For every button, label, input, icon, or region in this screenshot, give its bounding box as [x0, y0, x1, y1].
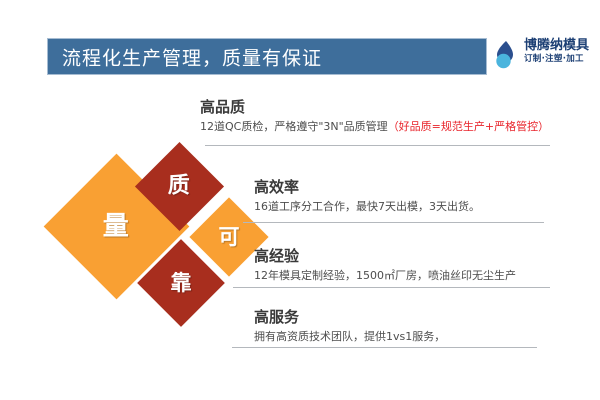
- brand-logo-text: 博腾纳模具 订制·注塑·加工: [524, 38, 594, 65]
- diamond-ke-label: 可: [219, 227, 240, 248]
- feature-desc-efficiency: 16道工序分工合作，最快7天出模，3天出货。: [254, 199, 480, 215]
- feature-title-experience: 高经验: [254, 247, 516, 266]
- divider-experience: [233, 287, 550, 288]
- slide-canvas: 流程化生产管理，质量有保证 博腾纳模具 订制·注塑·加工 量 质 可 靠 高品质…: [0, 0, 600, 400]
- feature-block-service: 高服务 拥有高资质技术团队，提供1vs1服务，: [254, 308, 445, 345]
- water-drop-icon: [494, 40, 522, 70]
- feature-desc-quality-highlight: （好品质=规范生产+严格管控）: [388, 120, 549, 133]
- diamond-zhi-label: 质: [168, 175, 190, 197]
- brand-subtitle: 订制·注塑·加工: [524, 53, 594, 65]
- feature-block-efficiency: 高效率 16道工序分工合作，最快7天出模，3天出货。: [254, 178, 480, 215]
- feature-title-quality: 高品质: [200, 98, 549, 117]
- diamond-kao-label: 靠: [171, 273, 192, 294]
- feature-desc-quality-text: 12道QC质检，严格遵守"3N"品质管理: [200, 120, 388, 133]
- brand-name: 博腾纳模具: [524, 38, 594, 53]
- feature-desc-experience: 12年模具定制经验，1500㎡厂房，喷油丝印无尘生产: [254, 268, 516, 284]
- feature-block-quality: 高品质 12道QC质检，严格遵守"3N"品质管理（好品质=规范生产+严格管控）: [200, 98, 549, 135]
- feature-title-efficiency: 高效率: [254, 178, 480, 197]
- feature-title-service: 高服务: [254, 308, 445, 327]
- divider-quality: [205, 145, 550, 146]
- page-title: 流程化生产管理，质量有保证: [62, 43, 322, 70]
- header-bar: 流程化生产管理，质量有保证: [47, 38, 487, 75]
- brand-logo: 博腾纳模具 订制·注塑·加工: [494, 36, 594, 76]
- feature-block-experience: 高经验 12年模具定制经验，1500㎡厂房，喷油丝印无尘生产: [254, 247, 516, 284]
- divider-efficiency: [243, 222, 544, 223]
- divider-service: [232, 347, 537, 348]
- feature-desc-quality: 12道QC质检，严格遵守"3N"品质管理（好品质=规范生产+严格管控）: [200, 119, 549, 135]
- diamond-liang-label: 量: [103, 213, 129, 239]
- feature-desc-service: 拥有高资质技术团队，提供1vs1服务，: [254, 329, 445, 345]
